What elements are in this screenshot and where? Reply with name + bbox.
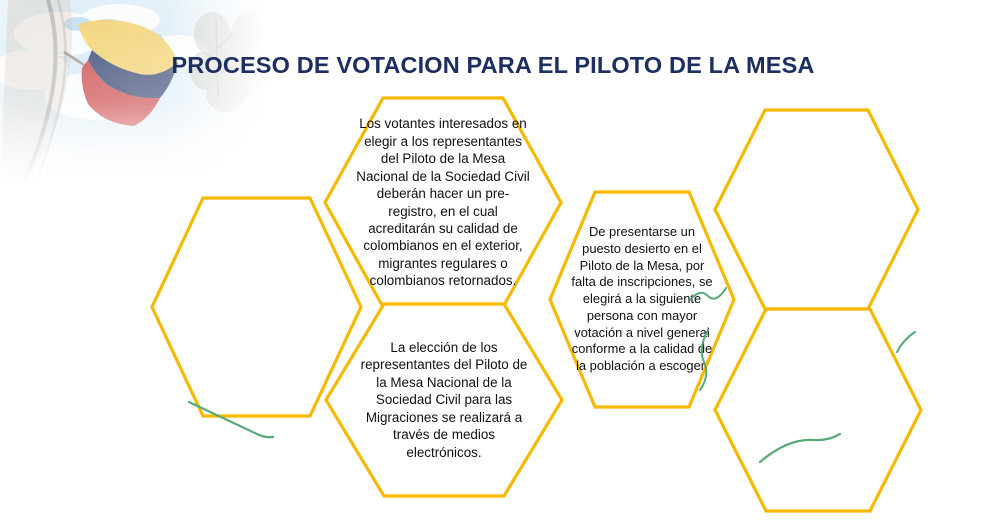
hexagon-text-puesto-desierto-label: De presentarse un puesto desierto en el … [569, 190, 716, 409]
slide-canvas: PROCESO DE VOTACION PARA EL PILOTO DE LA… [0, 0, 986, 531]
colombian-flag-photo [0, 0, 268, 185]
hexagon-image-voto-box: VOTO [713, 108, 920, 311]
hexagon-text-registro-label: Los votantes interesados en elegir a los… [354, 96, 532, 309]
hexagon-image-mobile-vote: VOTE [713, 307, 923, 513]
hexagon-image-laptop-vote: VOTE [150, 196, 363, 418]
page-title: PROCESO DE VOTACION PARA EL PILOTO DE LA… [0, 52, 986, 79]
hexagon-text-puesto-desierto: De presentarse un puesto desierto en el … [548, 190, 736, 409]
hexagon-text-medios-electronicos-label: La elección de los representantes del Pi… [355, 302, 533, 498]
